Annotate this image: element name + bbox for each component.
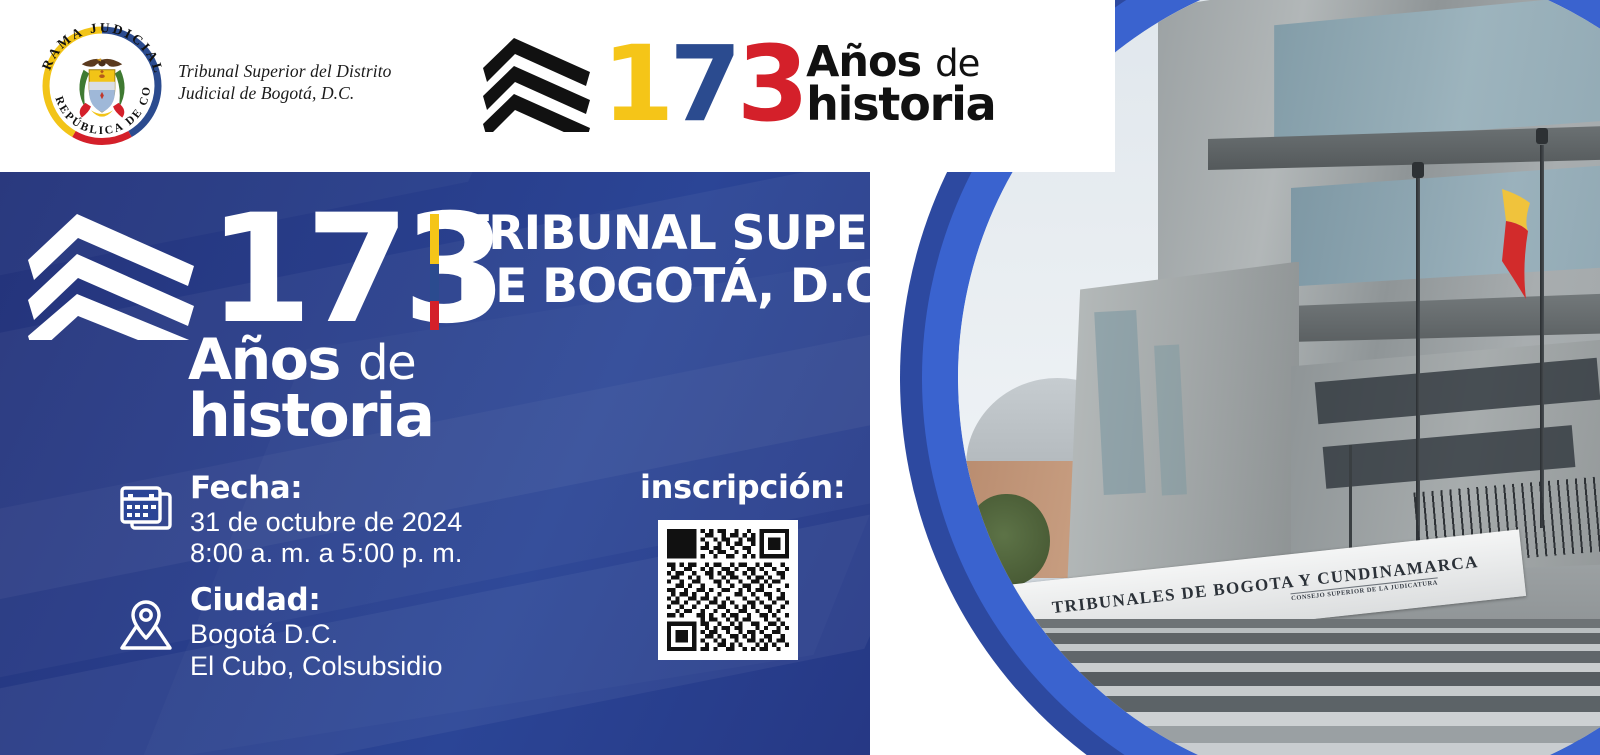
registration-qr-code[interactable] — [658, 520, 798, 660]
calendar-icon — [118, 484, 174, 540]
tree — [966, 494, 1049, 586]
rama-judicial-emblem-icon: RAMA JUDICIAL REPÚBLICA DE COLOMBIA — [34, 18, 170, 154]
hero-historia-word: historia — [188, 388, 500, 444]
detail-row-date: Fecha: 31 de octubre de 2024 8:00 a. m. … — [118, 470, 462, 570]
flag-pole — [1540, 145, 1544, 528]
venue-value: El Cubo, Colsubsidio — [190, 651, 443, 683]
time-value: 8:00 a. m. a 5:00 p. m. — [190, 538, 462, 570]
header-anniversary-lockup: 173 Años de historia — [478, 28, 996, 140]
qr-code-graphic — [667, 529, 789, 651]
flag-pole-finial — [1536, 128, 1548, 144]
detail-row-city: Ciudad: Bogotá D.C. El Cubo, Colsubsidio — [118, 582, 462, 682]
date-value: 31 de octubre de 2024 — [190, 507, 462, 539]
header-anniversary-number: 173 — [602, 36, 804, 132]
header-bar: RAMA JUDICIAL REPÚBLICA DE COLOMBIA — [0, 0, 1115, 172]
header-anos-historia: Años de historia — [806, 43, 995, 125]
colombia-flag-divider — [430, 214, 439, 330]
institution-line-1: Tribunal Superior del Distrito — [178, 60, 438, 82]
bogota-flag — [1500, 187, 1534, 305]
hero-anniversary-lockup: 173 Años de historia — [22, 204, 500, 444]
flag-pole — [1416, 178, 1420, 544]
city-label: Ciudad: — [190, 582, 443, 619]
institution-name: Tribunal Superior del Distrito Judicial … — [178, 60, 438, 105]
institution-line-2: Judicial de Bogotá, D.C. — [178, 82, 438, 104]
date-label: Fecha: — [190, 470, 462, 507]
entrance-steps — [958, 619, 1600, 755]
anniversary-digit-1: 1 — [602, 36, 669, 132]
anniversary-digit-2: 7 — [669, 36, 736, 132]
event-details: Fecha: 31 de octubre de 2024 8:00 a. m. … — [118, 470, 462, 695]
event-banner: 173 Años de historia TRIBUNAL SUPERIOR D… — [0, 0, 1600, 755]
glass-facade-upper — [1274, 0, 1600, 145]
registration-label: inscripción: — [640, 468, 845, 506]
header-historia-word: historia — [806, 83, 995, 125]
chevron-mark-icon — [478, 36, 598, 132]
anniversary-digit-3: 3 — [737, 36, 804, 132]
flag-pole-finial — [1412, 162, 1424, 178]
chevron-mark-icon — [22, 210, 212, 340]
city-value: Bogotá D.C. — [190, 619, 443, 651]
map-pin-icon — [118, 596, 174, 652]
registration-block: inscripción: — [640, 468, 845, 660]
